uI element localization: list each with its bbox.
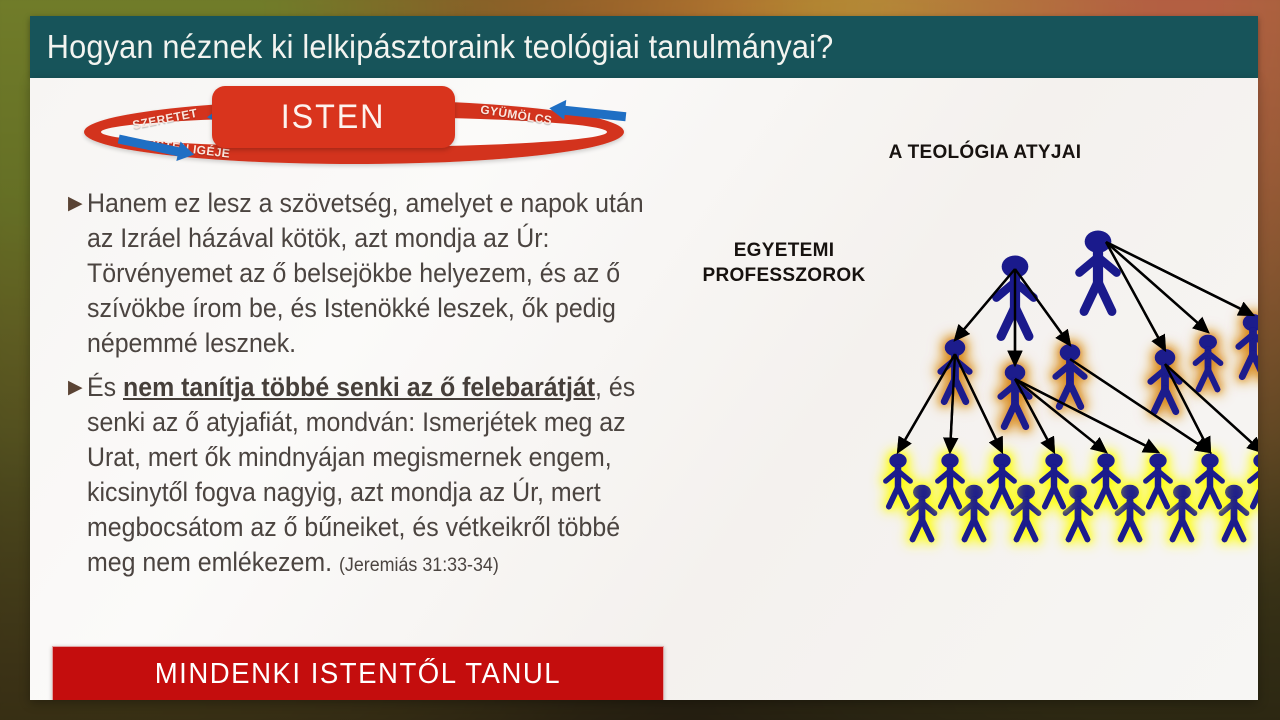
congregation-figure: [1198, 453, 1222, 506]
content-panel: SZERETET GYÜMÖLCS ISTEN IGÉJE ISTEN ▶ Ha…: [30, 78, 1258, 700]
hierarchy-figures-svg: [670, 78, 1258, 700]
hierarchy-figures-canvas: [670, 78, 1258, 700]
bullet-marker-icon: ▶: [68, 370, 83, 405]
hierarchy-arrow-icon: [1106, 242, 1253, 315]
hierarchy-arrow-icon: [955, 354, 1002, 452]
bullet-marker-icon: ▶: [68, 186, 83, 221]
theology-father-figure: [1079, 230, 1116, 311]
page-title: Hogyan néznek ki lelkipásztoraink teológ…: [30, 28, 833, 66]
congregation-figure: [1094, 453, 1118, 506]
scripture-paragraph-2: ▶ És nem tanítja többé senki az ő feleba…: [68, 370, 693, 583]
congregation-figure: [1221, 485, 1246, 540]
hierarchy-diagram: A TEOLÓGIA ATYJAI EGYETEMI PROFESSZOROK: [670, 78, 1258, 700]
hierarchy-arrow-icon: [1015, 379, 1106, 452]
conclusion-banner-text: MINDENKI ISTENTŐL TANUL: [155, 658, 561, 691]
professor-figure: [1151, 349, 1180, 412]
hierarchy-arrow-icon: [1106, 242, 1165, 350]
congregation-figure: [1146, 453, 1170, 506]
hierarchy-arrow-icon: [1070, 359, 1210, 452]
congregation-figure: [1065, 485, 1090, 540]
paragraph-2-highlight: nem tanítja többé senki az ő felebarátjá…: [123, 372, 595, 402]
congregation-figure: [961, 485, 986, 540]
scripture-paragraph-1-text: Hanem ez lesz a szövetség, amelyet e nap…: [87, 186, 657, 361]
isten-cycle-diagram: SZERETET GYÜMÖLCS ISTEN IGÉJE ISTEN: [72, 86, 642, 174]
professor-figure: [1056, 344, 1085, 407]
congregation-figure: [1013, 485, 1038, 540]
isten-center-label: ISTEN: [281, 98, 386, 137]
professor-figure: [1001, 364, 1030, 427]
congregation-figure: [938, 453, 962, 506]
congregation-figure: [990, 453, 1014, 506]
congregation-figure: [886, 453, 910, 506]
congregation-figure: [1250, 453, 1258, 506]
congregation-figure: [1117, 485, 1142, 540]
congregation-figure: [909, 485, 934, 540]
scripture-citation: (Jeremiás 31:33-34): [339, 555, 499, 576]
professor-figure: [1195, 335, 1220, 390]
isten-center-box: ISTEN: [212, 86, 455, 148]
title-bar: Hogyan néznek ki lelkipásztoraink teológ…: [30, 16, 1258, 78]
hierarchy-arrow-icon: [1106, 242, 1208, 332]
congregation-figure: [1169, 485, 1194, 540]
conclusion-banner: MINDENKI ISTENTŐL TANUL: [52, 646, 664, 700]
scripture-paragraph-1: ▶ Hanem ez lesz a szövetség, amelyet e n…: [68, 186, 693, 361]
congregation-figure: [1042, 453, 1066, 506]
hierarchy-arrow-icon: [1015, 379, 1158, 452]
paragraph-2-pre: És: [87, 372, 123, 402]
paragraph-2-post: , és senki az ő atyjafiát, mondván: Isme…: [87, 372, 635, 577]
scripture-paragraph-2-text: És nem tanítja többé senki az ő felebará…: [87, 370, 657, 583]
professor-figure: [1239, 314, 1258, 377]
